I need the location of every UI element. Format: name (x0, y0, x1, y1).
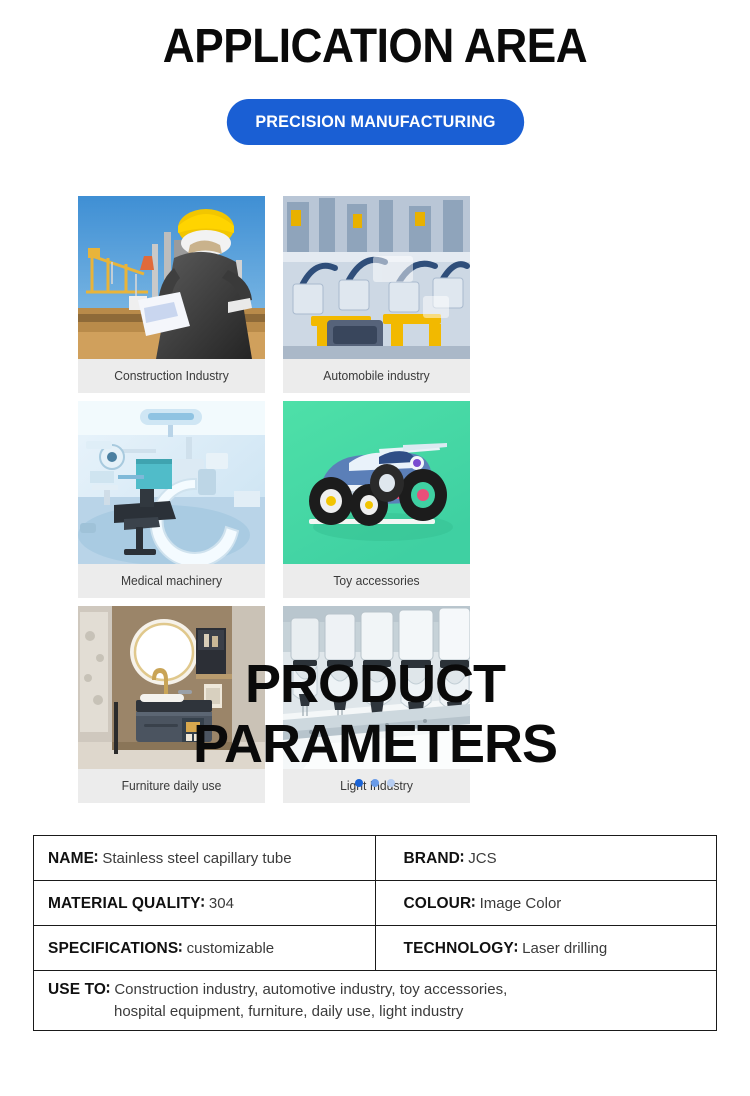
spec-value-line-2: hospital equipment, furniture, daily use… (48, 1001, 716, 1023)
spec-cell-use-to: USE TO∶ Construction industry, automotiv… (34, 971, 717, 1031)
spec-key: NAME∶ (48, 850, 98, 867)
product-title-line-1: PRODUCT (0, 654, 750, 714)
spec-value: customizable (187, 940, 275, 957)
automobile-industry-image (283, 196, 470, 359)
product-parameters-title: PRODUCT PARAMETERS (0, 654, 750, 774)
spec-key: USE TO∶ (48, 981, 110, 998)
precision-manufacturing-badge[interactable]: PRECISION MANUFACTURING (226, 99, 523, 145)
spec-value: 304 (209, 895, 234, 912)
spec-key: COLOUR∶ (404, 895, 476, 912)
product-title-line-2: PARAMETERS (0, 714, 750, 774)
spec-key: TECHNOLOGY∶ (404, 940, 519, 957)
spec-value: Stainless steel capillary tube (102, 850, 291, 867)
spec-cell-specifications: SPECIFICATIONS∶ customizable (34, 926, 376, 971)
card-label: Construction Industry (81, 359, 262, 393)
application-area-page: APPLICATION AREA PRECISION MANUFACTURING (0, 0, 750, 1096)
application-card[interactable]: Medical machinery (78, 401, 265, 598)
spec-key: MATERIAL QUALITY∶ (48, 895, 205, 912)
carousel-dot-2[interactable] (371, 779, 379, 787)
card-label: Toy accessories (286, 564, 467, 598)
spec-cell-name: NAME∶ Stainless steel capillary tube (34, 836, 376, 881)
badge-container: PRECISION MANUFACTURING (0, 99, 750, 145)
carousel-dots (0, 779, 750, 787)
application-card[interactable]: Toy accessories (283, 401, 470, 598)
application-card[interactable]: Construction Industry (78, 196, 265, 393)
spec-cell-technology: TECHNOLOGY∶ Laser drilling (375, 926, 717, 971)
table-row: MATERIAL QUALITY∶ 304 COLOUR∶ Image Colo… (34, 881, 717, 926)
spec-value: Laser drilling (522, 940, 607, 957)
spec-value: Image Color (480, 895, 562, 912)
carousel-dot-3[interactable] (387, 779, 395, 787)
table-row: NAME∶ Stainless steel capillary tube BRA… (34, 836, 717, 881)
spec-key: BRAND∶ (404, 850, 465, 867)
spec-key: SPECIFICATIONS∶ (48, 940, 182, 957)
product-parameters-table: NAME∶ Stainless steel capillary tube BRA… (33, 835, 717, 1031)
spec-cell-brand: BRAND∶ JCS (375, 836, 717, 881)
spec-cell-colour: COLOUR∶ Image Color (375, 881, 717, 926)
spec-value-line-1: Construction industry, automotive indust… (114, 981, 507, 998)
construction-industry-image (78, 196, 265, 359)
application-card[interactable]: Automobile industry (283, 196, 470, 393)
card-label: Medical machinery (81, 564, 262, 598)
spec-value: JCS (468, 850, 496, 867)
toy-accessories-image (283, 401, 470, 564)
spec-cell-material-quality: MATERIAL QUALITY∶ 304 (34, 881, 376, 926)
page-title: APPLICATION AREA (30, 19, 720, 75)
table-row: SPECIFICATIONS∶ customizable TECHNOLOGY∶… (34, 926, 717, 971)
medical-machinery-image (78, 401, 265, 564)
table-row: USE TO∶ Construction industry, automotiv… (34, 971, 717, 1031)
card-label: Automobile industry (286, 359, 467, 393)
carousel-dot-1[interactable] (355, 779, 363, 787)
